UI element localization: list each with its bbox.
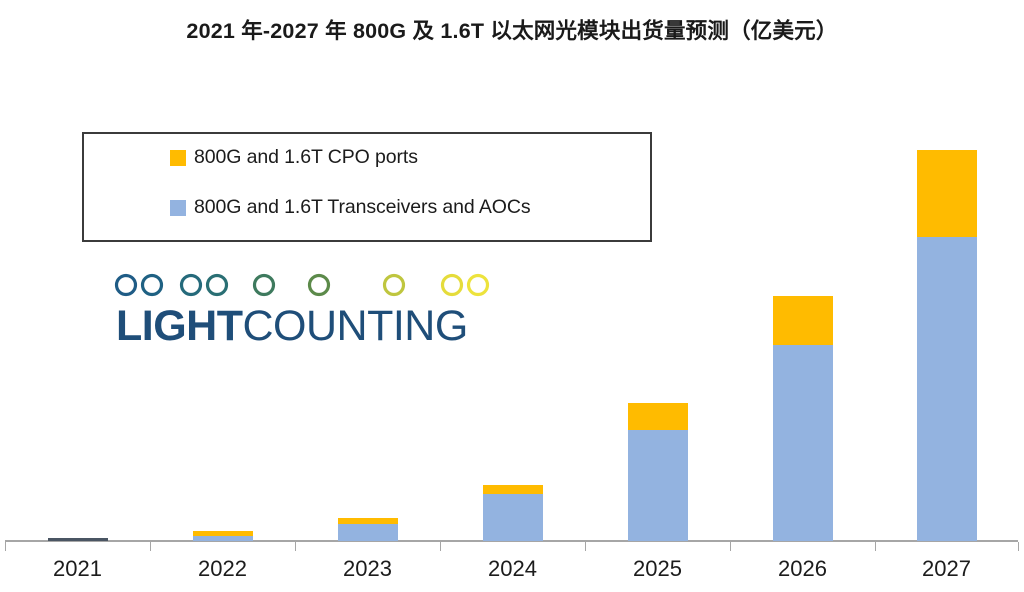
x-axis-tick: [295, 542, 296, 551]
legend-item-cpo-ports[interactable]: 800G and 1.6T CPO ports: [170, 146, 418, 169]
logo-word-counting: COUNTING: [242, 302, 467, 350]
x-axis-tick: [440, 542, 441, 551]
bar-2026[interactable]: [773, 296, 833, 541]
legend-swatch-cpo-ports: [170, 150, 186, 166]
bar-segment-transceivers: [628, 430, 688, 541]
bar-segment-cpo-ports: [773, 296, 833, 345]
bar-2021[interactable]: [48, 538, 108, 541]
x-axis-tick: [875, 542, 876, 551]
bar-segment-cpo-ports: [628, 403, 688, 430]
x-axis-label-2021: 2021: [18, 556, 138, 582]
logo-wordmark: LIGHTCOUNTING: [116, 302, 468, 350]
logo-dots-icon: [104, 268, 504, 302]
x-axis-tick: [1018, 542, 1019, 551]
chart-legend: 800G and 1.6T CPO ports 800G and 1.6T Tr…: [82, 132, 652, 242]
x-axis-label-2022: 2022: [163, 556, 283, 582]
legend-item-transceivers-aocs[interactable]: 800G and 1.6T Transceivers and AOCs: [170, 196, 531, 219]
bar-2024[interactable]: [483, 485, 543, 541]
logo-word-light: LIGHT: [116, 302, 242, 350]
legend-swatch-transceivers-aocs: [170, 200, 186, 216]
bar-2027[interactable]: [917, 150, 977, 541]
x-axis-tick: [585, 542, 586, 551]
bar-segment-cpo-ports: [483, 485, 543, 494]
legend-label-cpo-ports: 800G and 1.6T CPO ports: [194, 146, 418, 169]
x-axis-label-2024: 2024: [453, 556, 573, 582]
x-axis-label-2026: 2026: [743, 556, 863, 582]
x-axis-tick: [150, 542, 151, 551]
x-axis-label-2027: 2027: [887, 556, 1007, 582]
bar-segment-transceivers: [773, 345, 833, 541]
bar-2025[interactable]: [628, 403, 688, 541]
bar-2022[interactable]: [193, 531, 253, 541]
x-axis-label-2025: 2025: [598, 556, 718, 582]
lightcounting-logo: LIGHTCOUNTING: [104, 268, 504, 350]
legend-label-transceivers-aocs: 800G and 1.6T Transceivers and AOCs: [194, 196, 531, 219]
x-axis-label-2023: 2023: [308, 556, 428, 582]
bar-segment-transceivers: [917, 237, 977, 541]
bar-segment-transceivers: [338, 524, 398, 541]
bar-segment-transceivers: [48, 538, 108, 541]
bar-2023[interactable]: [338, 518, 398, 541]
bar-segment-cpo-ports: [917, 150, 977, 237]
bar-segment-transceivers: [483, 494, 543, 541]
bar-segment-transceivers: [193, 536, 253, 541]
x-axis-tick: [730, 542, 731, 551]
x-axis-tick: [5, 542, 6, 551]
